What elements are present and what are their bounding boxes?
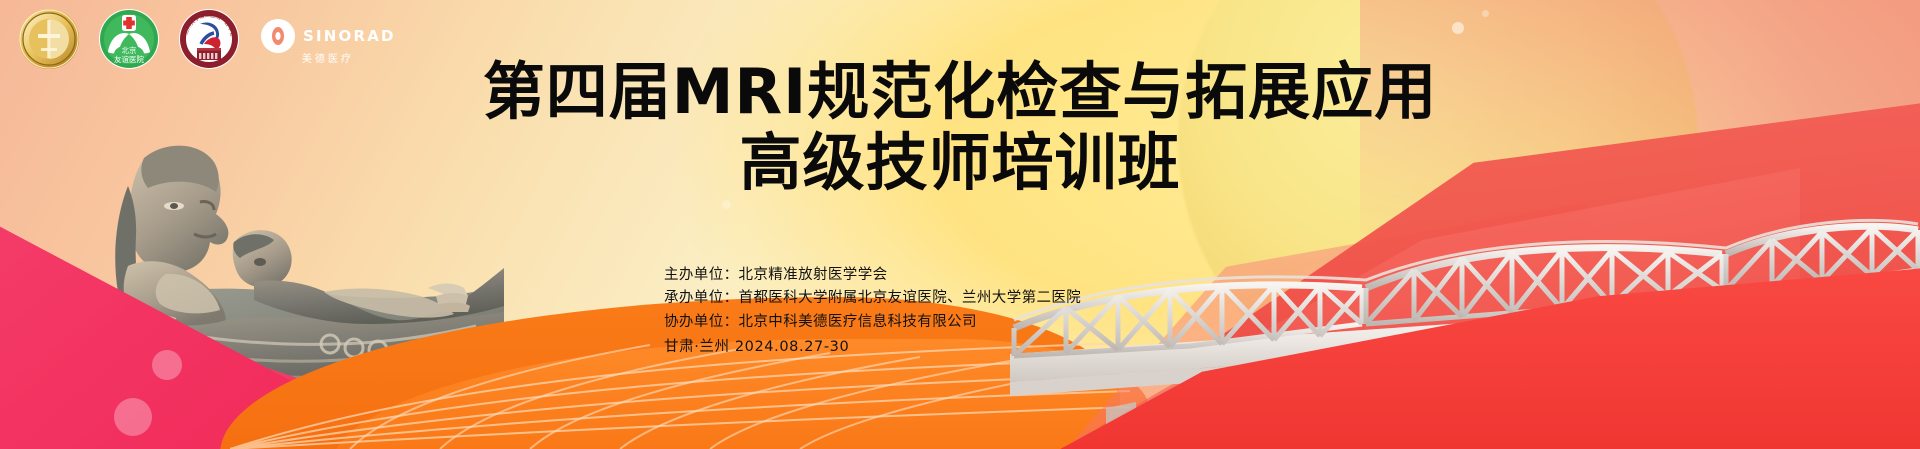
light-speck: [1482, 10, 1489, 17]
decorative-dot: [114, 398, 152, 436]
svg-text:北京: 北京: [122, 45, 137, 55]
conference-banner: 北京 友谊医院: [0, 0, 1920, 449]
sinorad-logo: SINORAD 美德医疗: [260, 18, 396, 65]
event-info-block: 主办单位：北京精准放射医学学会 承办单位：首都医科大学附属北京友谊医院、兰州大学…: [664, 264, 1081, 360]
sinorad-mark-icon: [260, 18, 296, 54]
gold-circular-emblem-logo: [18, 8, 80, 75]
co-organizer-line: 承办单位：首都医科大学附属北京友谊医院、兰州大学第二医院: [664, 287, 1081, 310]
decorative-dot: [152, 350, 182, 380]
light-speck: [722, 200, 731, 209]
organizer-line: 主办单位：北京精准放射医学学会: [664, 264, 1081, 287]
sinorad-subtitle: 美德医疗: [302, 55, 354, 65]
supporter-line: 协办单位：北京中科美德医疗信息科技有限公司: [664, 311, 1081, 334]
location-date: 甘肃·兰州 2024.08.27-30: [664, 336, 1081, 359]
lanzhou-university-second-hospital-logo: 兰州大学第二医院 · 百年老院: [178, 8, 240, 75]
light-speck: [1452, 22, 1464, 34]
sinorad-wordmark: SINORAD: [303, 29, 396, 44]
sponsor-logos: 北京 友谊医院: [18, 8, 396, 75]
beijing-friendship-hospital-logo: 北京 友谊医院: [98, 8, 160, 75]
svg-text:友谊医院: 友谊医院: [114, 54, 144, 64]
